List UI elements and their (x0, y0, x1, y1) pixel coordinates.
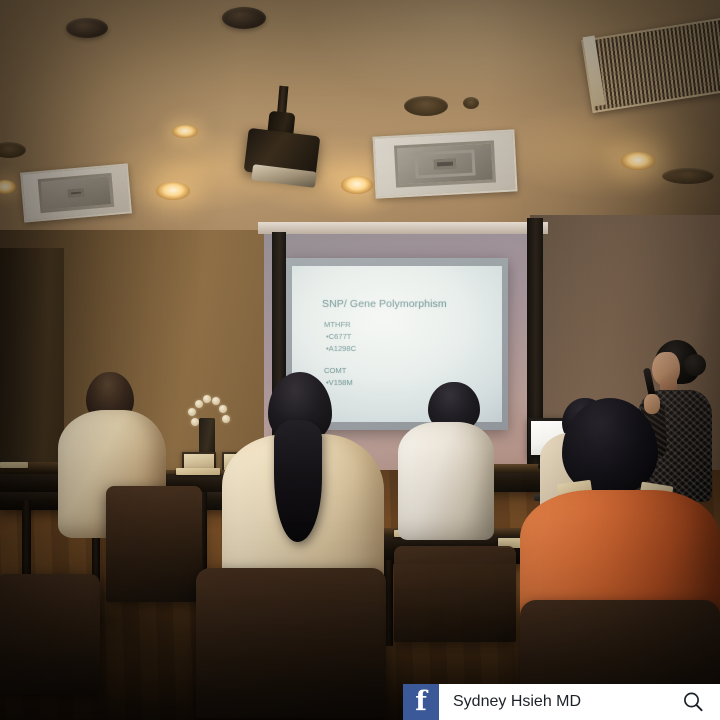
hair-ponytail (274, 420, 322, 542)
recessed-light-off-icon (662, 168, 714, 184)
slide-bullet: MTHFR (324, 320, 351, 329)
search-icon[interactable] (676, 691, 710, 713)
smoke-detector-icon (66, 18, 108, 38)
seated-man-center (398, 382, 502, 548)
chair-woman (196, 568, 386, 718)
recessed-light-off-icon (404, 96, 448, 116)
conference-photo: SNP/ Gene Polymorphism MTHFR •C677T •A12… (0, 0, 720, 720)
flower (191, 418, 199, 426)
ac-diffuser-icon (372, 129, 517, 198)
slide-title: SNP/ Gene Polymorphism (322, 298, 447, 310)
diffuser-ring (67, 189, 84, 198)
flower (195, 400, 203, 408)
ceiling-trim (258, 222, 548, 234)
flower (188, 408, 196, 416)
recessed-downlight-icon (621, 152, 655, 170)
smoke-detector-icon (222, 7, 266, 29)
page-name: Sydney Hsieh MD (453, 693, 676, 711)
chair-mid-left (106, 486, 202, 602)
chair-center (394, 546, 516, 642)
facebook-app-bar: f Sydney Hsieh MD (403, 684, 720, 720)
chair-left-foreground (0, 574, 100, 694)
slide-bullet: •C677T (326, 332, 351, 341)
recessed-downlight-icon (156, 182, 190, 200)
facebook-logo-icon[interactable]: f (403, 684, 439, 720)
screenshot-root: SNP/ Gene Polymorphism MTHFR •C677T •A12… (0, 0, 720, 720)
paper-sheet (0, 462, 28, 468)
hair-bun (684, 354, 706, 376)
torso (398, 422, 494, 540)
recessed-light-off-icon (463, 97, 479, 109)
diffuser-ring (434, 159, 457, 169)
slide-bullet: •A1298C (326, 344, 356, 353)
facebook-search-field[interactable]: Sydney Hsieh MD (439, 684, 720, 720)
ceiling-vent-icon (20, 163, 132, 222)
head (562, 398, 658, 494)
recessed-downlight-icon (172, 125, 198, 138)
recessed-downlight-icon (341, 176, 373, 194)
